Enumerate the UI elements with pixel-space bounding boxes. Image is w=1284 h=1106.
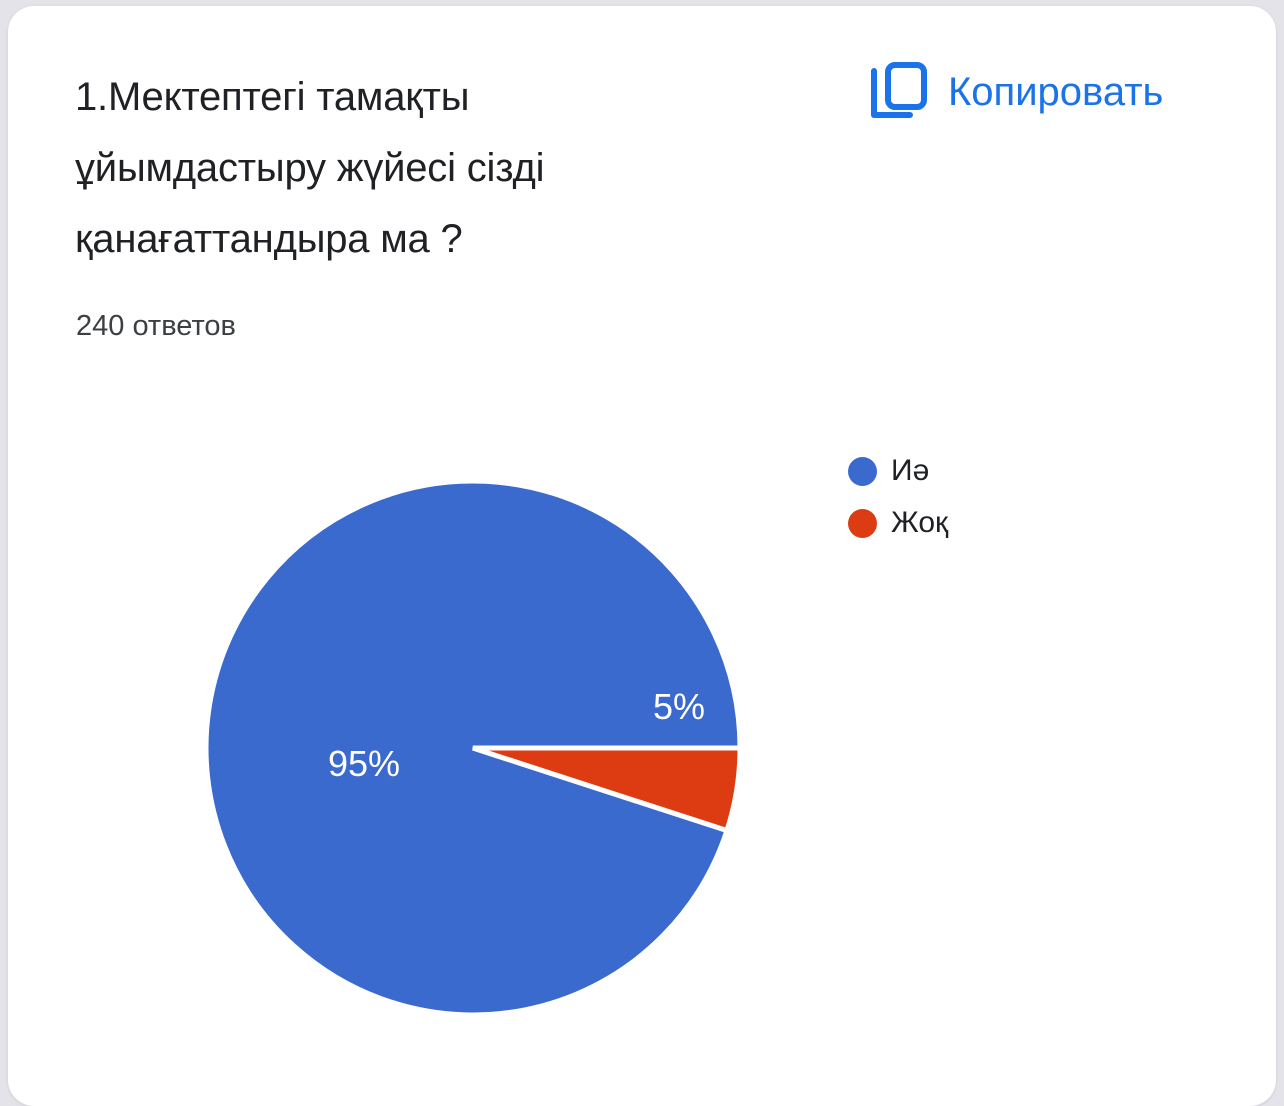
page-title: 1.Мектептегі тамақты ұйымдастыру жүйесі … (75, 62, 735, 275)
legend-label-no: Жоқ (891, 508, 948, 538)
legend-swatch-yes (848, 457, 877, 486)
pie-label-yes: 95% (328, 743, 400, 784)
pie-chart-area: 95% 5% Иә Жоқ (8, 406, 1276, 1066)
legend-label-yes: Иә (891, 456, 929, 486)
copy-icon (870, 61, 928, 123)
chart-legend: Иә Жоқ (848, 456, 948, 538)
legend-item-no[interactable]: Жоқ (848, 508, 948, 538)
responses-count-label: 240 ответов (76, 306, 236, 346)
survey-result-card: 1.Мектептегі тамақты ұйымдастыру жүйесі … (8, 6, 1276, 1106)
legend-item-yes[interactable]: Иә (848, 456, 948, 486)
copy-button[interactable]: Копировать (870, 61, 1163, 123)
legend-swatch-no (848, 509, 877, 538)
copy-button-label: Копировать (948, 67, 1163, 117)
pie-chart: 95% 5% (158, 426, 858, 1066)
pie-label-no: 5% (653, 686, 705, 727)
pie-slices (206, 481, 740, 1015)
